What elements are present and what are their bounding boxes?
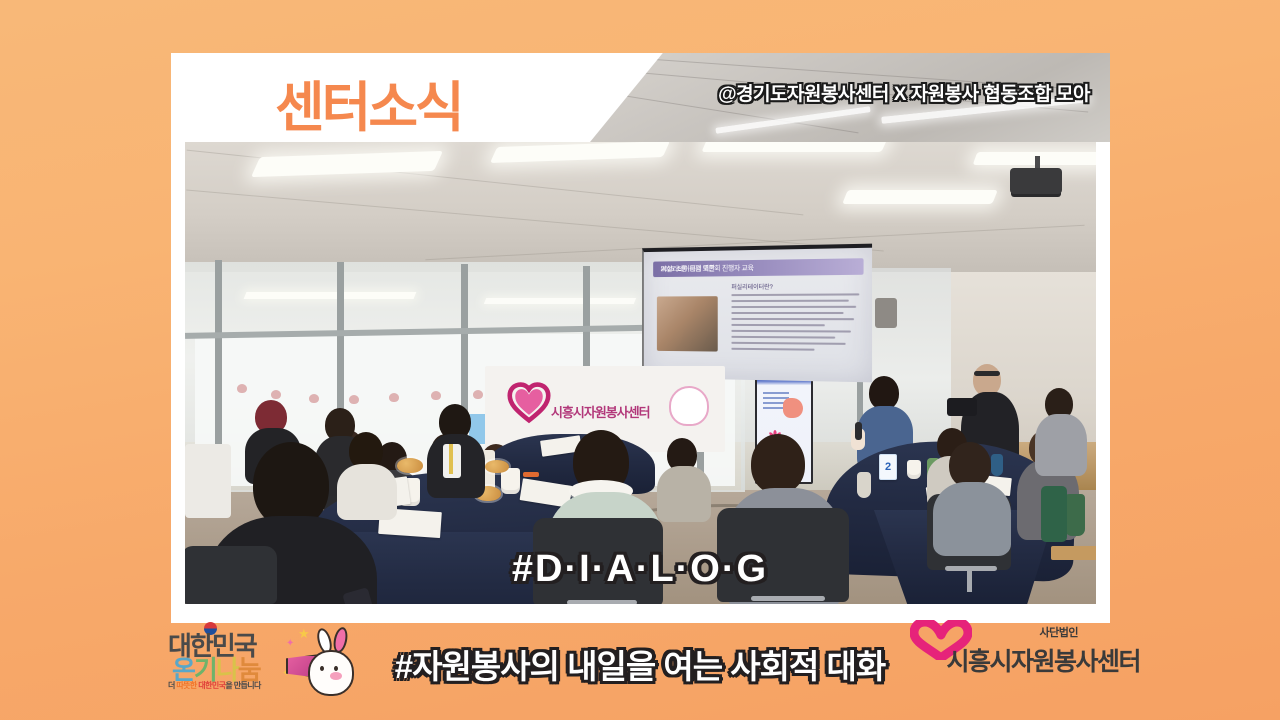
backdrop-org-name: 시흥시자원봉사센터 (551, 402, 650, 421)
caption-dialog: #D·I·A·L·O·G (0, 548, 1280, 591)
interior-light-reflection (244, 292, 417, 299)
tumbler (991, 454, 1003, 476)
slide-photo (657, 296, 718, 351)
marker-pen (523, 472, 539, 477)
ceiling-light (701, 142, 888, 152)
glasses-icon (974, 371, 1000, 376)
paper-cup (907, 460, 921, 479)
pastry-snack (485, 460, 509, 473)
card-header: 센터소식 @경기도자원봉사센터 X 자원봉사 협동조합 모아 (171, 53, 1110, 142)
ceiling-light (490, 142, 670, 163)
interior-light-reflection (484, 298, 636, 304)
pastry-snack (397, 458, 423, 473)
ceiling (185, 142, 1096, 272)
wall-speaker-icon (875, 298, 897, 328)
page-title: 센터소식 (275, 63, 462, 142)
slide-body-title: 퍼실리테이터란? (731, 282, 773, 291)
microphone-icon (855, 422, 862, 440)
slide-header-sub: 2025 소통·공감 토론회 진행자 교육 (661, 261, 855, 274)
thermos (1041, 486, 1067, 542)
ceiling-light (842, 190, 998, 204)
tumbler (857, 472, 871, 498)
video-camera-icon (947, 398, 977, 416)
table-number-card: 2 (879, 454, 897, 480)
air-purifier (185, 444, 231, 518)
lanyard (449, 444, 453, 474)
event-photo: 퍼실리테이터의 역할 2025 소통·공감 토론회 진행자 교육 퍼실리테이터란… (185, 142, 1096, 604)
slide-header-bar: 퍼실리테이터의 역할 2025 소통·공감 토론회 진행자 교육 (653, 258, 863, 277)
projector-icon (1010, 168, 1062, 194)
tumbler (1065, 494, 1085, 536)
slide-bullet-list (731, 293, 859, 355)
heart-logo-icon (507, 380, 551, 424)
projection-screen: 퍼실리테이터의 역할 2025 소통·공감 토론회 진행자 교육 퍼실리테이터란… (642, 244, 872, 383)
org-legal-form: 사단법인 (1040, 624, 1078, 640)
partner-credit: @경기도자원봉사센터 X 자원봉사 협동조합 모아 (718, 79, 1090, 106)
news-card: 센터소식 @경기도자원봉사센터 X 자원봉사 협동조합 모아 (171, 53, 1110, 623)
caption-korean: #자원봉사의 내일을 여는 사회적 대화 (0, 640, 1280, 688)
backdrop-mascot-icon (669, 386, 709, 426)
